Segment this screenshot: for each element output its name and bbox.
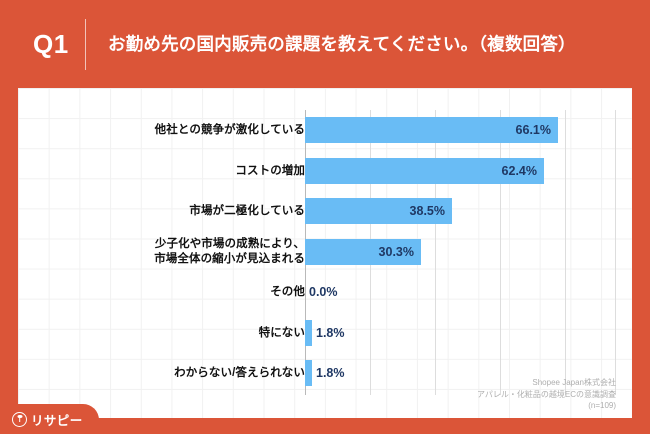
source-line-1: Shopee Japan株式会社 xyxy=(477,377,616,389)
bar-value-label: 1.8% xyxy=(316,326,345,340)
pin-circle-icon xyxy=(12,412,27,427)
bar-container: 62.4% xyxy=(305,158,544,184)
header: Q1 お勤め先の国内販売の課題を教えてください。（複数回答） xyxy=(0,0,650,88)
category-label: その他 xyxy=(270,285,305,299)
bar-container: 30.3% xyxy=(305,239,421,265)
brand-logo-text: リサピー xyxy=(31,410,83,429)
category-label: 少子化や市場の成熟により、 市場全体の縮小が見込まれる xyxy=(154,237,305,266)
bar-rows: 他社との競争が激化している 66.1% コストの増加 62.4% 市場が二極化し… xyxy=(18,110,632,394)
bar-value-label: 1.8% xyxy=(316,366,345,380)
bar-container: 1.8% xyxy=(305,320,312,346)
category-label: わからない/答えられない xyxy=(174,366,305,380)
header-divider xyxy=(85,19,86,70)
bar-row: 特にない 1.8% xyxy=(18,313,632,354)
bar-value-label: 30.3% xyxy=(379,245,414,259)
bar xyxy=(305,320,312,346)
question-number: Q1 xyxy=(33,29,85,60)
chart-poster: Q1 お勤め先の国内販売の課題を教えてください。（複数回答） 他社との競争が激化… xyxy=(0,0,650,434)
bar-row: 他社との競争が激化している 66.1% xyxy=(18,110,632,151)
source-line-2: アパレル・化粧品の越境ECの意識調査 xyxy=(477,389,616,401)
bar-container: 66.1% xyxy=(305,117,558,143)
source-line-3: (n=109) xyxy=(477,400,616,412)
category-label: 他社との競争が激化している xyxy=(155,123,305,137)
category-label: コストの増加 xyxy=(235,164,305,178)
bar xyxy=(305,360,312,386)
bar-row: コストの増加 62.4% xyxy=(18,151,632,192)
question-title: お勤め先の国内販売の課題を教えてください。（複数回答） xyxy=(108,33,576,56)
bar-value-label: 38.5% xyxy=(410,204,445,218)
frame-right-edge xyxy=(632,88,650,434)
category-label: 特にない xyxy=(259,326,305,340)
bar-container: 1.8% xyxy=(305,360,312,386)
plot-area: 他社との競争が激化している 66.1% コストの増加 62.4% 市場が二極化し… xyxy=(18,88,632,418)
bar-value-label: 66.1% xyxy=(516,123,551,137)
bar-row: 市場が二極化している 38.5% xyxy=(18,191,632,232)
brand-logo: リサピー xyxy=(0,404,99,434)
bar-container: 38.5% xyxy=(305,198,452,224)
bar-row: その他 0.0% xyxy=(18,272,632,313)
chart-card: 他社との競争が激化している 66.1% コストの増加 62.4% 市場が二極化し… xyxy=(18,88,632,418)
category-label: 市場が二極化している xyxy=(189,204,305,218)
frame-left-edge xyxy=(0,88,18,434)
bar-value-label: 62.4% xyxy=(502,164,537,178)
bar-value-label: 0.0% xyxy=(309,285,338,299)
source-attribution: Shopee Japan株式会社 アパレル・化粧品の越境ECの意識調査 (n=1… xyxy=(477,377,616,412)
bar-row: 少子化や市場の成熟により、 市場全体の縮小が見込まれる 30.3% xyxy=(18,232,632,273)
